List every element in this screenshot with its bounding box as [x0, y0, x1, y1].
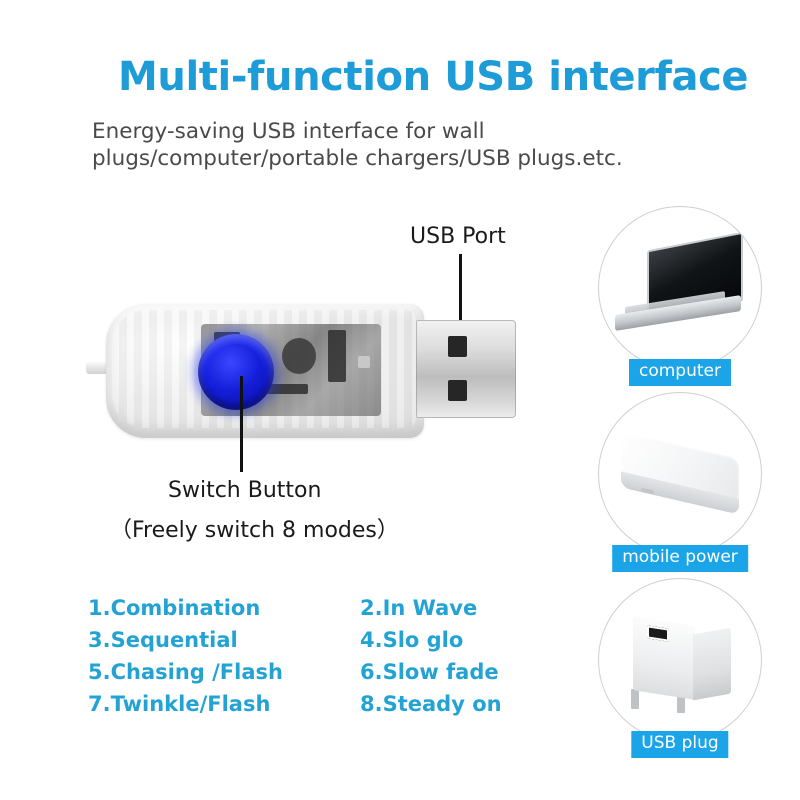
pcb-chip — [282, 338, 316, 374]
mode-item-5: 5.Chasing /Flash — [88, 660, 360, 684]
product-image-usb-controller — [96, 296, 521, 446]
mode-item-8: 8.Steady on — [360, 692, 528, 716]
infographic-page: Multi-function USB interface Energy-savi… — [0, 0, 800, 800]
thumbnail-circle — [598, 578, 762, 742]
mode-row: 5.Chasing /Flash 6.Slow fade — [88, 656, 528, 688]
usb-connector-slot — [448, 380, 467, 401]
callout-label-switch-button: Switch Button — [168, 478, 321, 503]
product-wire-stub — [86, 362, 108, 374]
mode-row: 1.Combination 2.In Wave — [88, 592, 528, 624]
page-subtitle: Energy-saving USB interface for wall plu… — [92, 118, 732, 172]
mode-row: 3.Sequential 4.Slo glo — [88, 624, 528, 656]
product-switch-button[interactable] — [198, 334, 274, 410]
callout-note-switch-modes: （Freely switch 8 modes） — [110, 512, 399, 544]
mode-item-3: 3.Sequential — [88, 628, 360, 652]
thumbnail-computer: computer — [598, 206, 762, 370]
mode-item-1: 1.Combination — [88, 596, 360, 620]
thumbnail-label-usb-plug: USB plug — [631, 731, 728, 758]
leader-line-switch-button — [240, 376, 243, 472]
lighting-modes-list: 1.Combination 2.In Wave 3.Sequential 4.S… — [88, 592, 528, 720]
plug-prong — [631, 689, 639, 709]
thumbnail-circle — [598, 206, 762, 370]
pcb-chip — [328, 330, 346, 382]
plug-side-face — [693, 628, 731, 701]
page-title: Multi-function USB interface — [118, 54, 748, 100]
mode-item-7: 7.Twinkle/Flash — [88, 692, 360, 716]
mode-item-6: 6.Slow fade — [360, 660, 528, 684]
mode-item-2: 2.In Wave — [360, 596, 528, 620]
callout-label-usb-port: USB Port — [410, 224, 506, 249]
mode-row: 7.Twinkle/Flash 8.Steady on — [88, 688, 528, 720]
thumbnail-label-mobile-power: mobile power — [612, 545, 748, 572]
pcb-chip — [358, 356, 370, 368]
thumbnail-mobile-power: mobile power — [598, 392, 762, 556]
product-usb-a-connector — [416, 320, 516, 418]
mode-item-4: 4.Slo glo — [360, 628, 528, 652]
thumbnail-usb-plug: USB plug — [598, 578, 762, 742]
thumbnail-label-computer: computer — [629, 359, 731, 386]
thumbnail-circle — [598, 392, 762, 556]
usb-connector-slot — [448, 336, 467, 357]
